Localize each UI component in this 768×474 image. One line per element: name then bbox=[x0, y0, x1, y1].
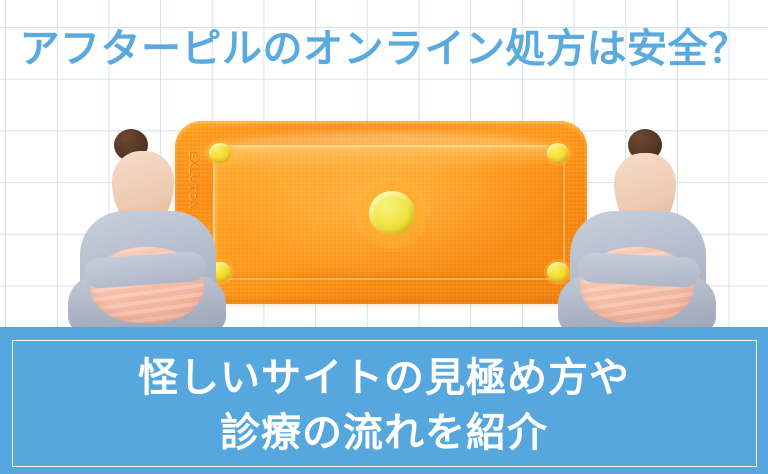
orange-blister-pack: EXLUTON 0.5mg TABLET bbox=[175, 121, 587, 304]
woman-right-figure bbox=[552, 129, 720, 334]
footer-banner-line-1: 怪しいサイトの見極め方や bbox=[0, 351, 768, 406]
footer-banner: 怪しいサイトの見極め方や 診療の流れを紹介 bbox=[0, 327, 768, 474]
eyecatch-banner: アフターピルのオンライン処方は安全？ EXLUTON 0.5mg TABLET … bbox=[0, 0, 768, 474]
arms-shape bbox=[577, 252, 700, 288]
blister-pack-highlight bbox=[200, 132, 563, 172]
woman-left-figure bbox=[62, 129, 230, 334]
pill-bubble-center bbox=[369, 191, 415, 235]
page-title: アフターピルのオンライン処方は安全？ bbox=[0, 23, 768, 75]
footer-banner-text: 怪しいサイトの見極め方や 診療の流れを紹介 bbox=[0, 351, 768, 461]
footer-banner-line-2: 診療の流れを紹介 bbox=[0, 406, 768, 461]
